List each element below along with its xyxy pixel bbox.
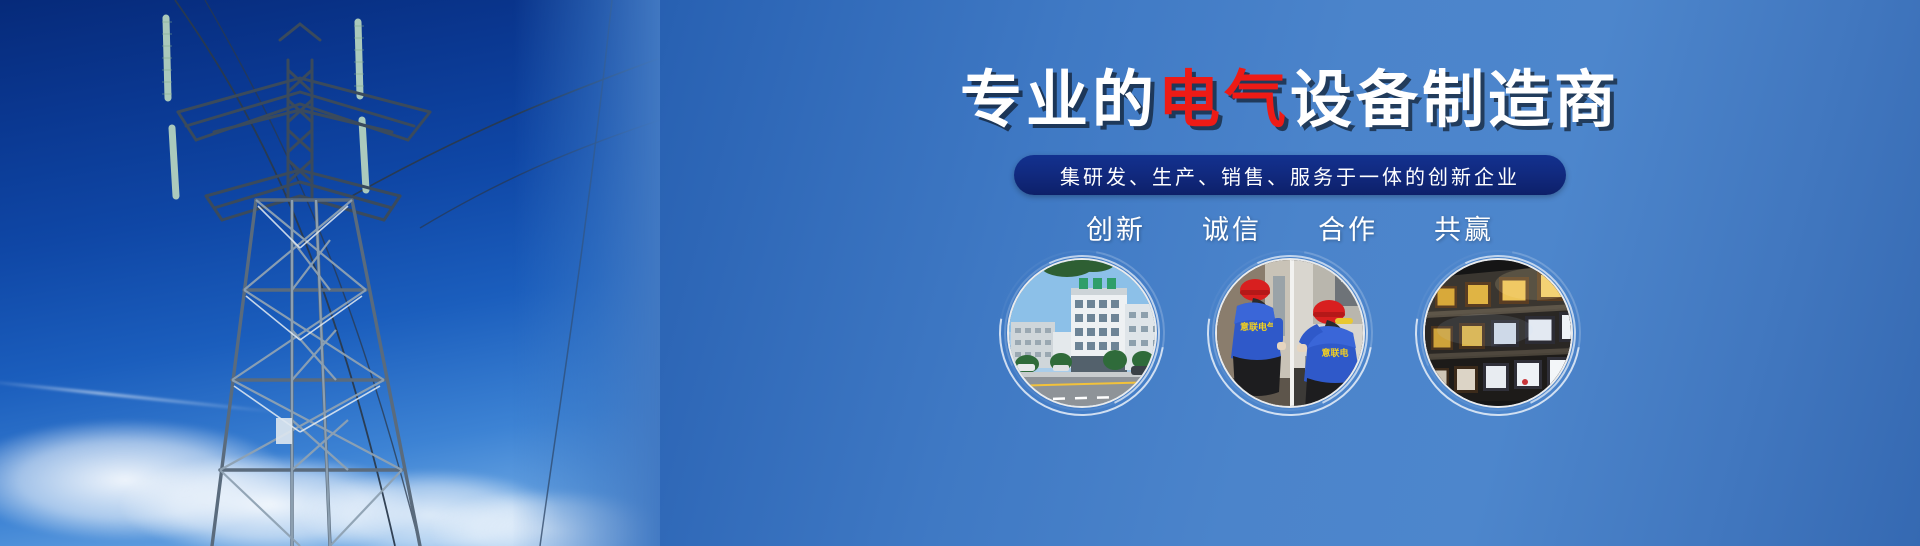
thumbnail-certificate-wall[interactable] (1423, 258, 1573, 408)
thumbnail-image (1007, 258, 1157, 408)
thumbnail-workers-installing[interactable]: 意联电气 意联电 (1215, 258, 1365, 408)
company-hero-banner: 专业的电气设备制造商 集研发、生产、销售、服务于一体的创新企业 创新 诚信 合作… (0, 0, 1920, 546)
thumbnail-image (1423, 258, 1573, 408)
thumbnail-office-building[interactable] (1007, 258, 1157, 408)
banner-content: 专业的电气设备制造商 集研发、生产、销售、服务于一体的创新企业 创新 诚信 合作… (660, 0, 1920, 546)
background-photo (0, 0, 660, 546)
office-building-icon (1009, 260, 1157, 408)
headline-part-3: 设备制造商 (1290, 66, 1620, 135)
headline-accent: 电气 (1158, 66, 1290, 135)
svg-text:意联电: 意联电 (1321, 347, 1348, 358)
photo-edge-fade (512, 0, 660, 546)
subtitle-pill-text: 集研发、生产、销售、服务于一体的创新企业 (1060, 161, 1520, 190)
subtitle-pill: 集研发、生产、销售、服务于一体的创新企业 (1014, 155, 1566, 195)
certificate-wall-icon (1425, 260, 1573, 408)
workers-installing-icon: 意联电气 意联电 (1217, 260, 1365, 408)
banner-headline: 专业的电气设备制造商 (660, 70, 1920, 132)
keyword-item: 共赢 (1434, 208, 1494, 247)
thumbnail-row: 意联电气 意联电 (660, 258, 1920, 408)
headline-part-1: 专业的 (960, 66, 1158, 135)
keyword-item: 创新 (1086, 208, 1146, 247)
keyword-list: 创新 诚信 合作 共赢 (660, 208, 1920, 247)
keyword-item: 诚信 (1202, 208, 1262, 247)
thumbnail-image: 意联电气 意联电 (1215, 258, 1365, 408)
keyword-item: 合作 (1318, 208, 1378, 247)
svg-text:意联电气: 意联电气 (1240, 321, 1276, 332)
